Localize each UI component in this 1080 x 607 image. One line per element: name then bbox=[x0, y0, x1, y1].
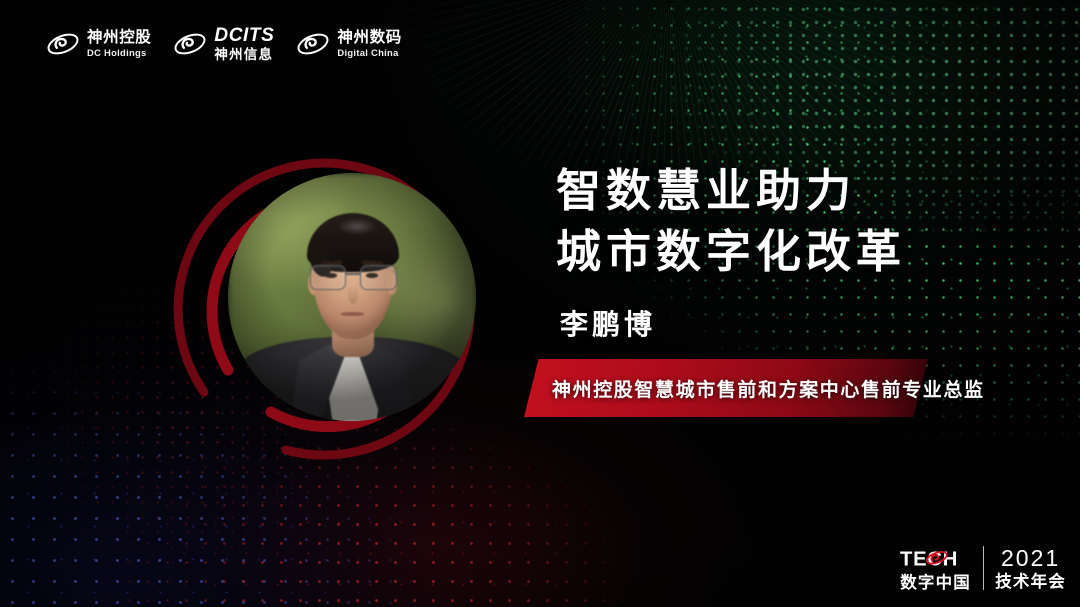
background-base bbox=[0, 0, 1080, 607]
presentation-slide: 神州控股 DC Holdings DCITS 神州信息 bbox=[0, 0, 1080, 607]
logo-dc-holdings-cn: 神州控股 bbox=[87, 30, 151, 46]
logo-dc-holdings-en: DC Holdings bbox=[87, 48, 151, 57]
speaker-job-title: 神州控股智慧城市售前和方案中心售前专业总监 bbox=[552, 375, 985, 402]
event-logo-tech-cn: 数字中国 bbox=[900, 575, 971, 592]
logo-dcits-text: DCITS 神州信息 bbox=[214, 26, 274, 62]
logo-digital-china-en: Digital China bbox=[337, 48, 401, 57]
background-green-arc-dots bbox=[0, 0, 1080, 607]
background-green-particles bbox=[0, 0, 1080, 607]
logo-dcits-latin: DCITS bbox=[214, 26, 274, 45]
logo-dc-holdings: 神州控股 DC Holdings bbox=[46, 30, 151, 58]
logo-digital-china-text: 神州数码 Digital China bbox=[337, 30, 401, 58]
background-ray-lines bbox=[0, 0, 1080, 607]
event-logo-tech: TECH 数字中国 bbox=[900, 546, 972, 592]
event-logo-year-number: 2021 bbox=[1001, 547, 1060, 570]
event-logo-year: 2021 技术年会 bbox=[995, 547, 1066, 591]
dc-swirl-icon bbox=[296, 31, 330, 57]
logo-dcits-cn: 神州信息 bbox=[214, 48, 274, 62]
event-logo-divider bbox=[983, 546, 985, 590]
logo-digital-china-cn: 神州数码 bbox=[337, 30, 401, 46]
corporate-logo-bar: 神州控股 DC Holdings DCITS 神州信息 bbox=[46, 26, 402, 62]
dc-swirl-icon bbox=[46, 31, 80, 57]
background-darkred-particles bbox=[0, 0, 1080, 607]
background-blue-particles bbox=[0, 0, 1080, 607]
svg-text:TECH: TECH bbox=[900, 548, 958, 570]
speaker-photo bbox=[228, 173, 476, 421]
event-logo: TECH 数字中国 2021 技术年会 bbox=[900, 546, 1066, 592]
page-title: 智数慧业助力 城市数字化改革 bbox=[556, 160, 906, 282]
dc-swirl-icon bbox=[173, 31, 207, 57]
speaker-name: 李鹏博 bbox=[560, 303, 656, 343]
logo-dcits: DCITS 神州信息 bbox=[173, 26, 274, 62]
tech-wordmark-icon: TECH bbox=[900, 546, 972, 571]
background-vignette bbox=[0, 0, 1080, 607]
logo-digital-china: 神州数码 Digital China bbox=[296, 30, 401, 58]
photo-subject bbox=[228, 173, 476, 421]
background-red-particles bbox=[0, 0, 1080, 607]
logo-dc-holdings-text: 神州控股 DC Holdings bbox=[87, 30, 151, 58]
event-logo-year-cn: 技术年会 bbox=[995, 574, 1066, 591]
speaker-portrait bbox=[178, 128, 508, 473]
